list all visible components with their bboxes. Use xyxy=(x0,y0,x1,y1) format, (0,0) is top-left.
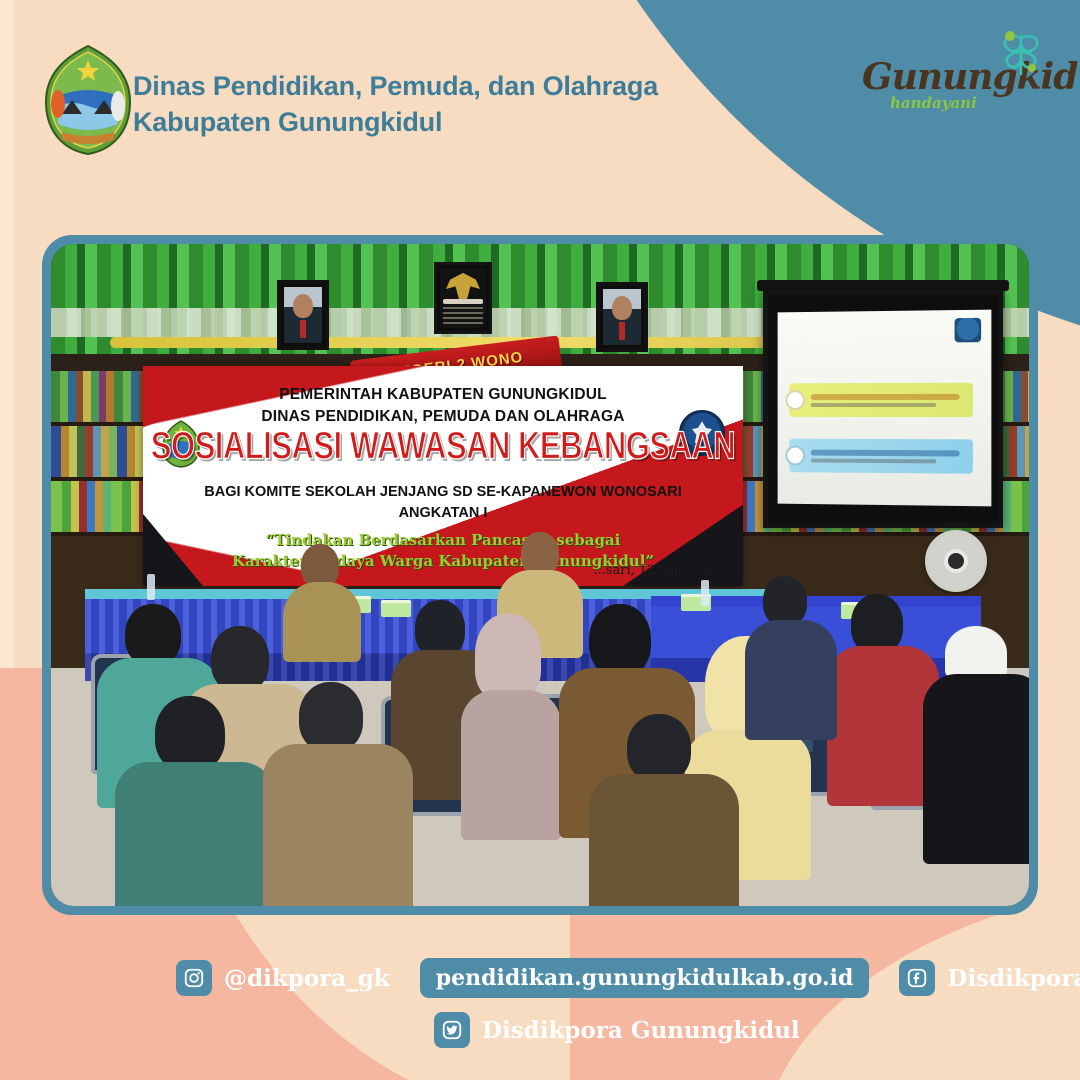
poster-header: Dinas Pendidikan, Pemuda, dan Olahraga K… xyxy=(0,0,1080,200)
title-line-1: Dinas Pendidikan, Pemuda, dan Olahraga xyxy=(133,68,658,104)
twitter-icon[interactable] xyxy=(434,1012,470,1048)
presiden-portrait xyxy=(277,280,329,350)
event-banner: PEMERINTAH KABUPATEN GUNUNGKIDUL DINAS P… xyxy=(143,366,743,586)
poster-canvas: Dinas Pendidikan, Pemuda, dan Olahraga K… xyxy=(0,0,1080,1080)
brand-tagline: handayani xyxy=(890,94,977,112)
banner-line-4: ANGKATAN I xyxy=(143,505,743,521)
projection-screen xyxy=(763,290,1003,528)
banner-title: SOSIALISASI WAWASAN KEBANGSAAN xyxy=(143,424,743,469)
slide-row-1 xyxy=(789,383,973,417)
banner-quote-line-1: “Tindakan Berdasarkan Pancasila sebagai xyxy=(143,531,743,549)
dragonfly-icon xyxy=(990,22,1052,84)
slide-bullet-1 xyxy=(785,390,805,410)
banner-line-1: PEMERINTAH KABUPATEN GUNUNGKIDUL xyxy=(143,386,743,404)
wakil-presiden-portrait xyxy=(596,282,648,352)
facebook-name[interactable]: Disdikpora Gunungkidul xyxy=(947,965,1080,992)
instagram-icon[interactable] xyxy=(176,960,212,996)
banner-line-3: BAGI KOMITE SEKOLAH JENJANG SD SE-KAPANE… xyxy=(143,484,743,500)
social-row-twitter: Disdikpora Gunungkidul xyxy=(434,1012,800,1048)
social-footer: @dikpora_gk pendidikan.gunungkidulkab.go… xyxy=(0,940,1080,1080)
water-bottle xyxy=(147,574,155,600)
social-row-primary: @dikpora_gk pendidikan.gunungkidulkab.go… xyxy=(176,958,1080,998)
facebook-icon[interactable] xyxy=(899,960,935,996)
website-url[interactable]: pendidikan.gunungkidulkab.go.id xyxy=(420,958,870,998)
slide-logo-icon xyxy=(955,318,982,343)
water-bottle xyxy=(701,580,709,606)
banner-date: ...sari, 12 April 2021 xyxy=(593,563,729,578)
gunungkidul-brand-logo: Gunungkidul handayani xyxy=(862,30,1062,130)
slide-row-2 xyxy=(789,439,973,474)
event-photo-frame: NEGERI 2 WONO xyxy=(42,235,1038,915)
wall-fan-icon xyxy=(925,530,987,592)
event-photo: NEGERI 2 WONO xyxy=(51,244,1029,906)
slide-bullet-2 xyxy=(785,446,805,466)
page-title: Dinas Pendidikan, Pemuda, dan Olahraga K… xyxy=(133,68,658,140)
instagram-handle[interactable]: @dikpora_gk xyxy=(224,965,390,992)
gunungkidul-regency-coat-of-arms-icon xyxy=(42,44,134,156)
title-line-2: Kabupaten Gunungkidul xyxy=(133,104,658,140)
garuda-pancasila-emblem-icon xyxy=(434,262,492,334)
twitter-name[interactable]: Disdikpora Gunungkidul xyxy=(482,1017,800,1044)
snack-box xyxy=(381,600,411,617)
presentation-slide xyxy=(778,310,992,507)
